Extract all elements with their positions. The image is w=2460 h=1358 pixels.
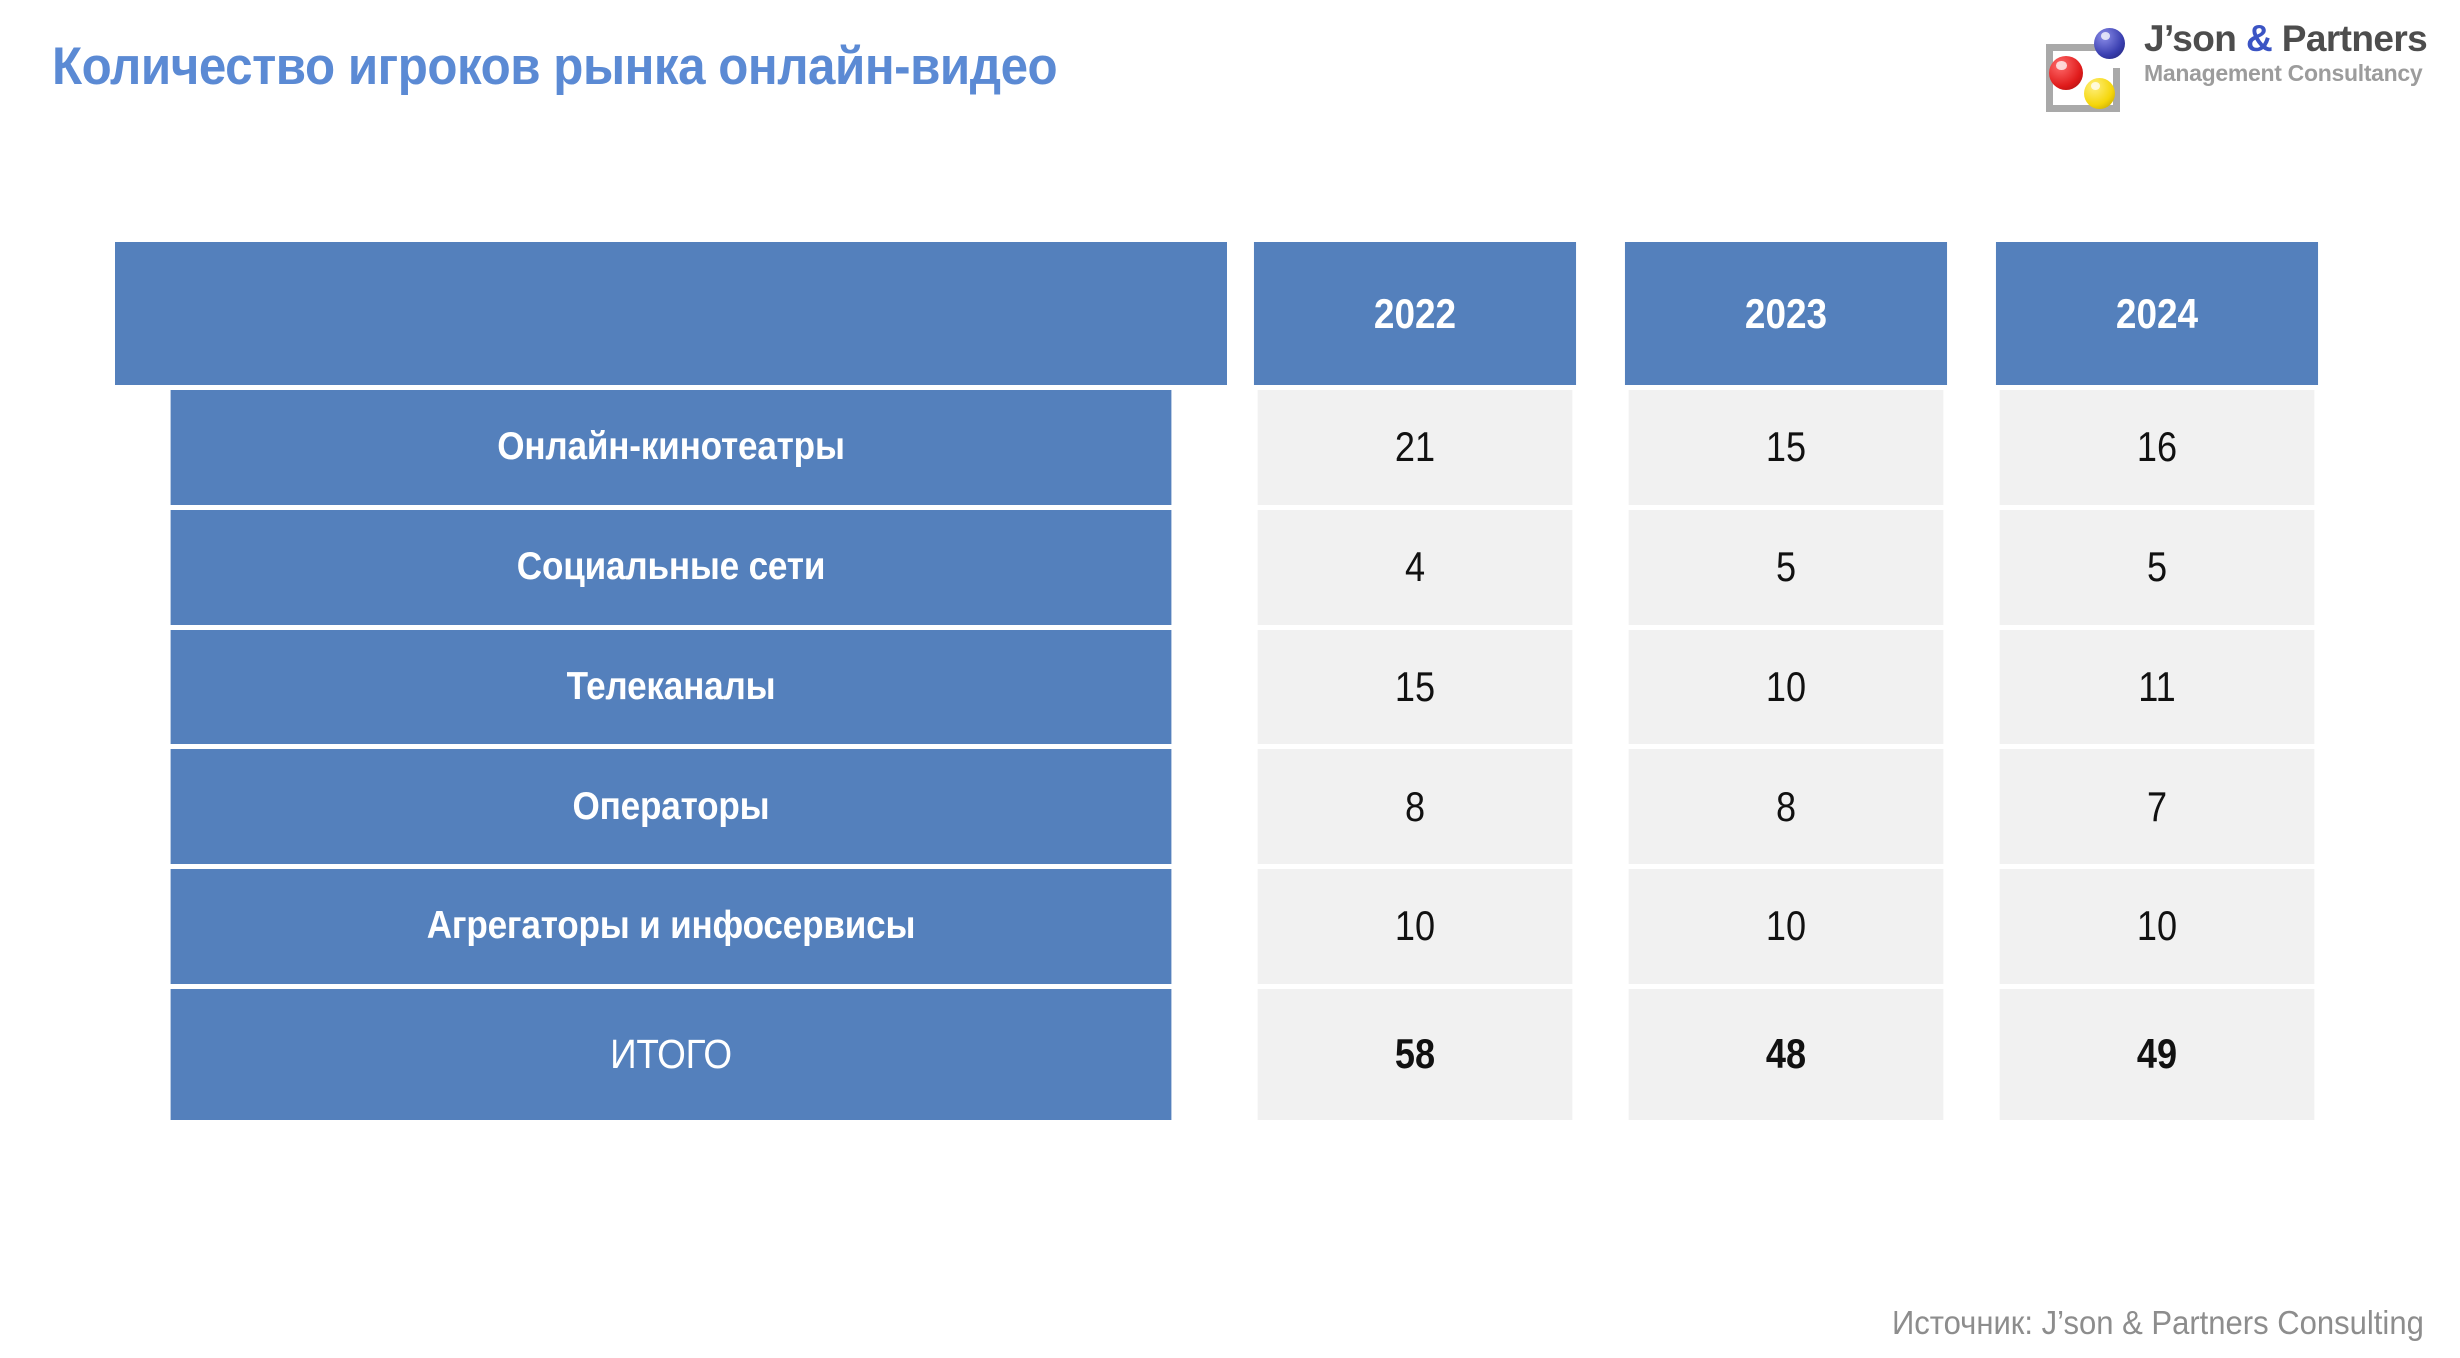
table-corner-cell — [115, 242, 1227, 385]
cell-operators-2024: 7 — [2000, 749, 2315, 864]
cell-total-2022: 58 — [1258, 989, 1573, 1120]
table-header: 2022 2023 2024 — [115, 242, 2340, 385]
table-total-row: ИТОГО 58 48 49 — [115, 989, 2340, 1120]
row-label-online-cinemas: Онлайн-кинотеатры — [171, 390, 1172, 505]
cell-tv-channels-2022: 15 — [1258, 630, 1573, 745]
table-row: Операторы 8 8 7 — [115, 749, 2340, 864]
cell-operators-2022: 8 — [1258, 749, 1573, 864]
players-count-table: 2022 2023 2024 Онлайн-кинотеатры 21 15 1… — [110, 237, 2345, 1125]
column-header-2024: 2024 — [1996, 242, 2318, 385]
cell-aggregators-2023: 10 — [1629, 869, 1944, 984]
cell-total-2024: 49 — [2000, 989, 2315, 1120]
cell-tv-channels-2023: 10 — [1629, 630, 1944, 745]
logo-ball-blue-icon — [2094, 28, 2125, 59]
table-body: Онлайн-кинотеатры 21 15 16 Социальные се… — [115, 390, 2340, 1120]
cell-social-networks-2022: 4 — [1258, 510, 1573, 625]
logo-mark-icon — [2032, 22, 2136, 110]
cell-tv-channels-2024: 11 — [2000, 630, 2315, 745]
cell-aggregators-2024: 10 — [2000, 869, 2315, 984]
table-row: Телеканалы 15 10 11 — [115, 630, 2340, 745]
row-label-social-networks: Социальные сети — [171, 510, 1172, 625]
logo-company-name: J’son & Partners — [2144, 20, 2440, 57]
table-row: Социальные сети 4 5 5 — [115, 510, 2340, 625]
logo-text: J’son & Partners Management Consultancy — [2144, 20, 2440, 87]
row-label-aggregators: Агрегаторы и инфосервисы — [171, 869, 1172, 984]
cell-online-cinemas-2024: 16 — [2000, 390, 2315, 505]
logo-ball-yellow-icon — [2084, 78, 2115, 109]
cell-online-cinemas-2023: 15 — [1629, 390, 1944, 505]
cell-online-cinemas-2022: 21 — [1258, 390, 1573, 505]
logo-tagline: Management Consultancy — [2144, 60, 2440, 87]
table-header-row: 2022 2023 2024 — [115, 242, 2340, 385]
cell-operators-2023: 8 — [1629, 749, 1944, 864]
page-title: Количество игроков рынка онлайн-видео — [52, 36, 1057, 97]
row-label-tv-channels: Телеканалы — [171, 630, 1172, 745]
logo-ball-red-icon — [2049, 56, 2083, 90]
logo-name-ampersand: & — [2246, 18, 2272, 59]
column-header-2022: 2022 — [1254, 242, 1576, 385]
cell-social-networks-2024: 5 — [2000, 510, 2315, 625]
table-row: Онлайн-кинотеатры 21 15 16 — [115, 390, 2340, 505]
logo-name-part2: Partners — [2272, 18, 2427, 59]
cell-social-networks-2023: 5 — [1629, 510, 1944, 625]
row-label-operators: Операторы — [171, 749, 1172, 864]
column-header-2023: 2023 — [1625, 242, 1947, 385]
row-label-total: ИТОГО — [171, 989, 1172, 1120]
cell-total-2023: 48 — [1629, 989, 1944, 1120]
source-note: Источник: J’son & Partners Consulting — [1892, 1304, 2424, 1342]
table-row: Агрегаторы и инфосервисы 10 10 10 — [115, 869, 2340, 984]
company-logo: J’son & Partners Management Consultancy — [2022, 16, 2442, 112]
cell-aggregators-2022: 10 — [1258, 869, 1573, 984]
logo-name-part1: J’son — [2144, 18, 2246, 59]
